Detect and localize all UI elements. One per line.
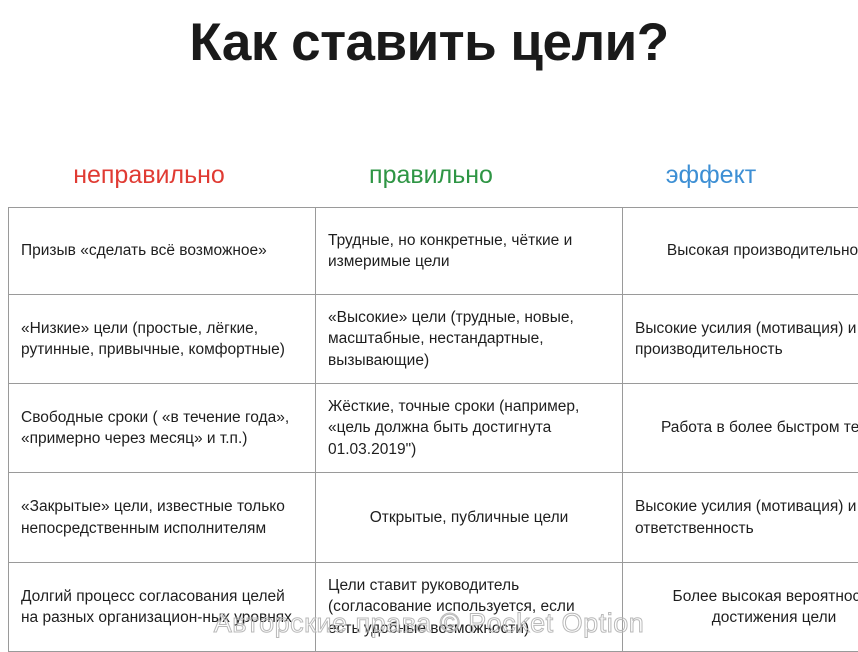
table-row: Призыв «сделать всё возможное» Трудные, … [9,208,858,295]
cell-wrong: Свободные сроки ( «в течение года», «при… [9,384,316,473]
cell-wrong: Долгий процесс согласования целей на раз… [9,563,316,652]
cell-text: Открытые, публичные цели [328,507,610,528]
cell-effect: Работа в более быстром темпе [623,384,858,473]
column-header-right: правильно [290,158,572,192]
column-header-wrong: неправильно [8,158,290,192]
table-row: Долгий процесс согласования целей на раз… [9,563,858,652]
cell-text: Жёсткие, точные сроки (например, «цель д… [328,396,610,460]
cell-effect: Высокие усилия (мотивация) и ответственн… [623,473,858,563]
cell-text: «Закрытые» цели, известные только непоср… [21,496,303,539]
cell-text: «Высокие» цели (трудные, новые, масштабн… [328,307,610,371]
cell-right: Жёсткие, точные сроки (например, «цель д… [316,384,623,473]
cell-effect: Высокая производительность [623,208,858,295]
cell-text: Высокая производительность [635,240,858,261]
cell-wrong: «Низкие» цели (простые, лёгкие, рутинные… [9,295,316,384]
cell-text: Свободные сроки ( «в течение года», «при… [21,407,303,450]
goals-comparison-table: Призыв «сделать всё возможное» Трудные, … [8,207,858,652]
table-row: Свободные сроки ( «в течение года», «при… [9,384,858,473]
page-title: Как ставить цели? [0,14,858,72]
cell-text: Высокие усилия (мотивация) и производите… [635,318,858,361]
table-row: «Низкие» цели (простые, лёгкие, рутинные… [9,295,858,384]
cell-right: Цели ставит руководитель (согласование и… [316,563,623,652]
cell-text: Призыв «сделать всё возможное» [21,240,303,261]
column-header-effect: эффект [572,158,850,192]
cell-right: Трудные, но конкретные, чёткие и измерим… [316,208,623,295]
cell-text: Работа в более быстром темпе [635,417,858,438]
cell-right: Открытые, публичные цели [316,473,623,563]
table-row: «Закрытые» цели, известные только непоср… [9,473,858,563]
slide-canvas: Как ставить цели? неправильно правильно … [0,0,858,644]
cell-text: Более высокая вероятность достижения цел… [635,586,858,629]
cell-text: Трудные, но конкретные, чёткие и измерим… [328,230,610,273]
cell-text: «Низкие» цели (простые, лёгкие, рутинные… [21,318,303,361]
cell-right: «Высокие» цели (трудные, новые, масштабн… [316,295,623,384]
cell-effect: Более высокая вероятность достижения цел… [623,563,858,652]
cell-effect: Высокие усилия (мотивация) и производите… [623,295,858,384]
cell-text: Цели ставит руководитель (согласование и… [328,575,610,639]
cell-text: Долгий процесс согласования целей на раз… [21,586,303,629]
cell-wrong: Призыв «сделать всё возможное» [9,208,316,295]
column-header-row: неправильно правильно эффект [8,158,850,198]
cell-text: Высокие усилия (мотивация) и ответственн… [635,496,858,539]
cell-wrong: «Закрытые» цели, известные только непоср… [9,473,316,563]
